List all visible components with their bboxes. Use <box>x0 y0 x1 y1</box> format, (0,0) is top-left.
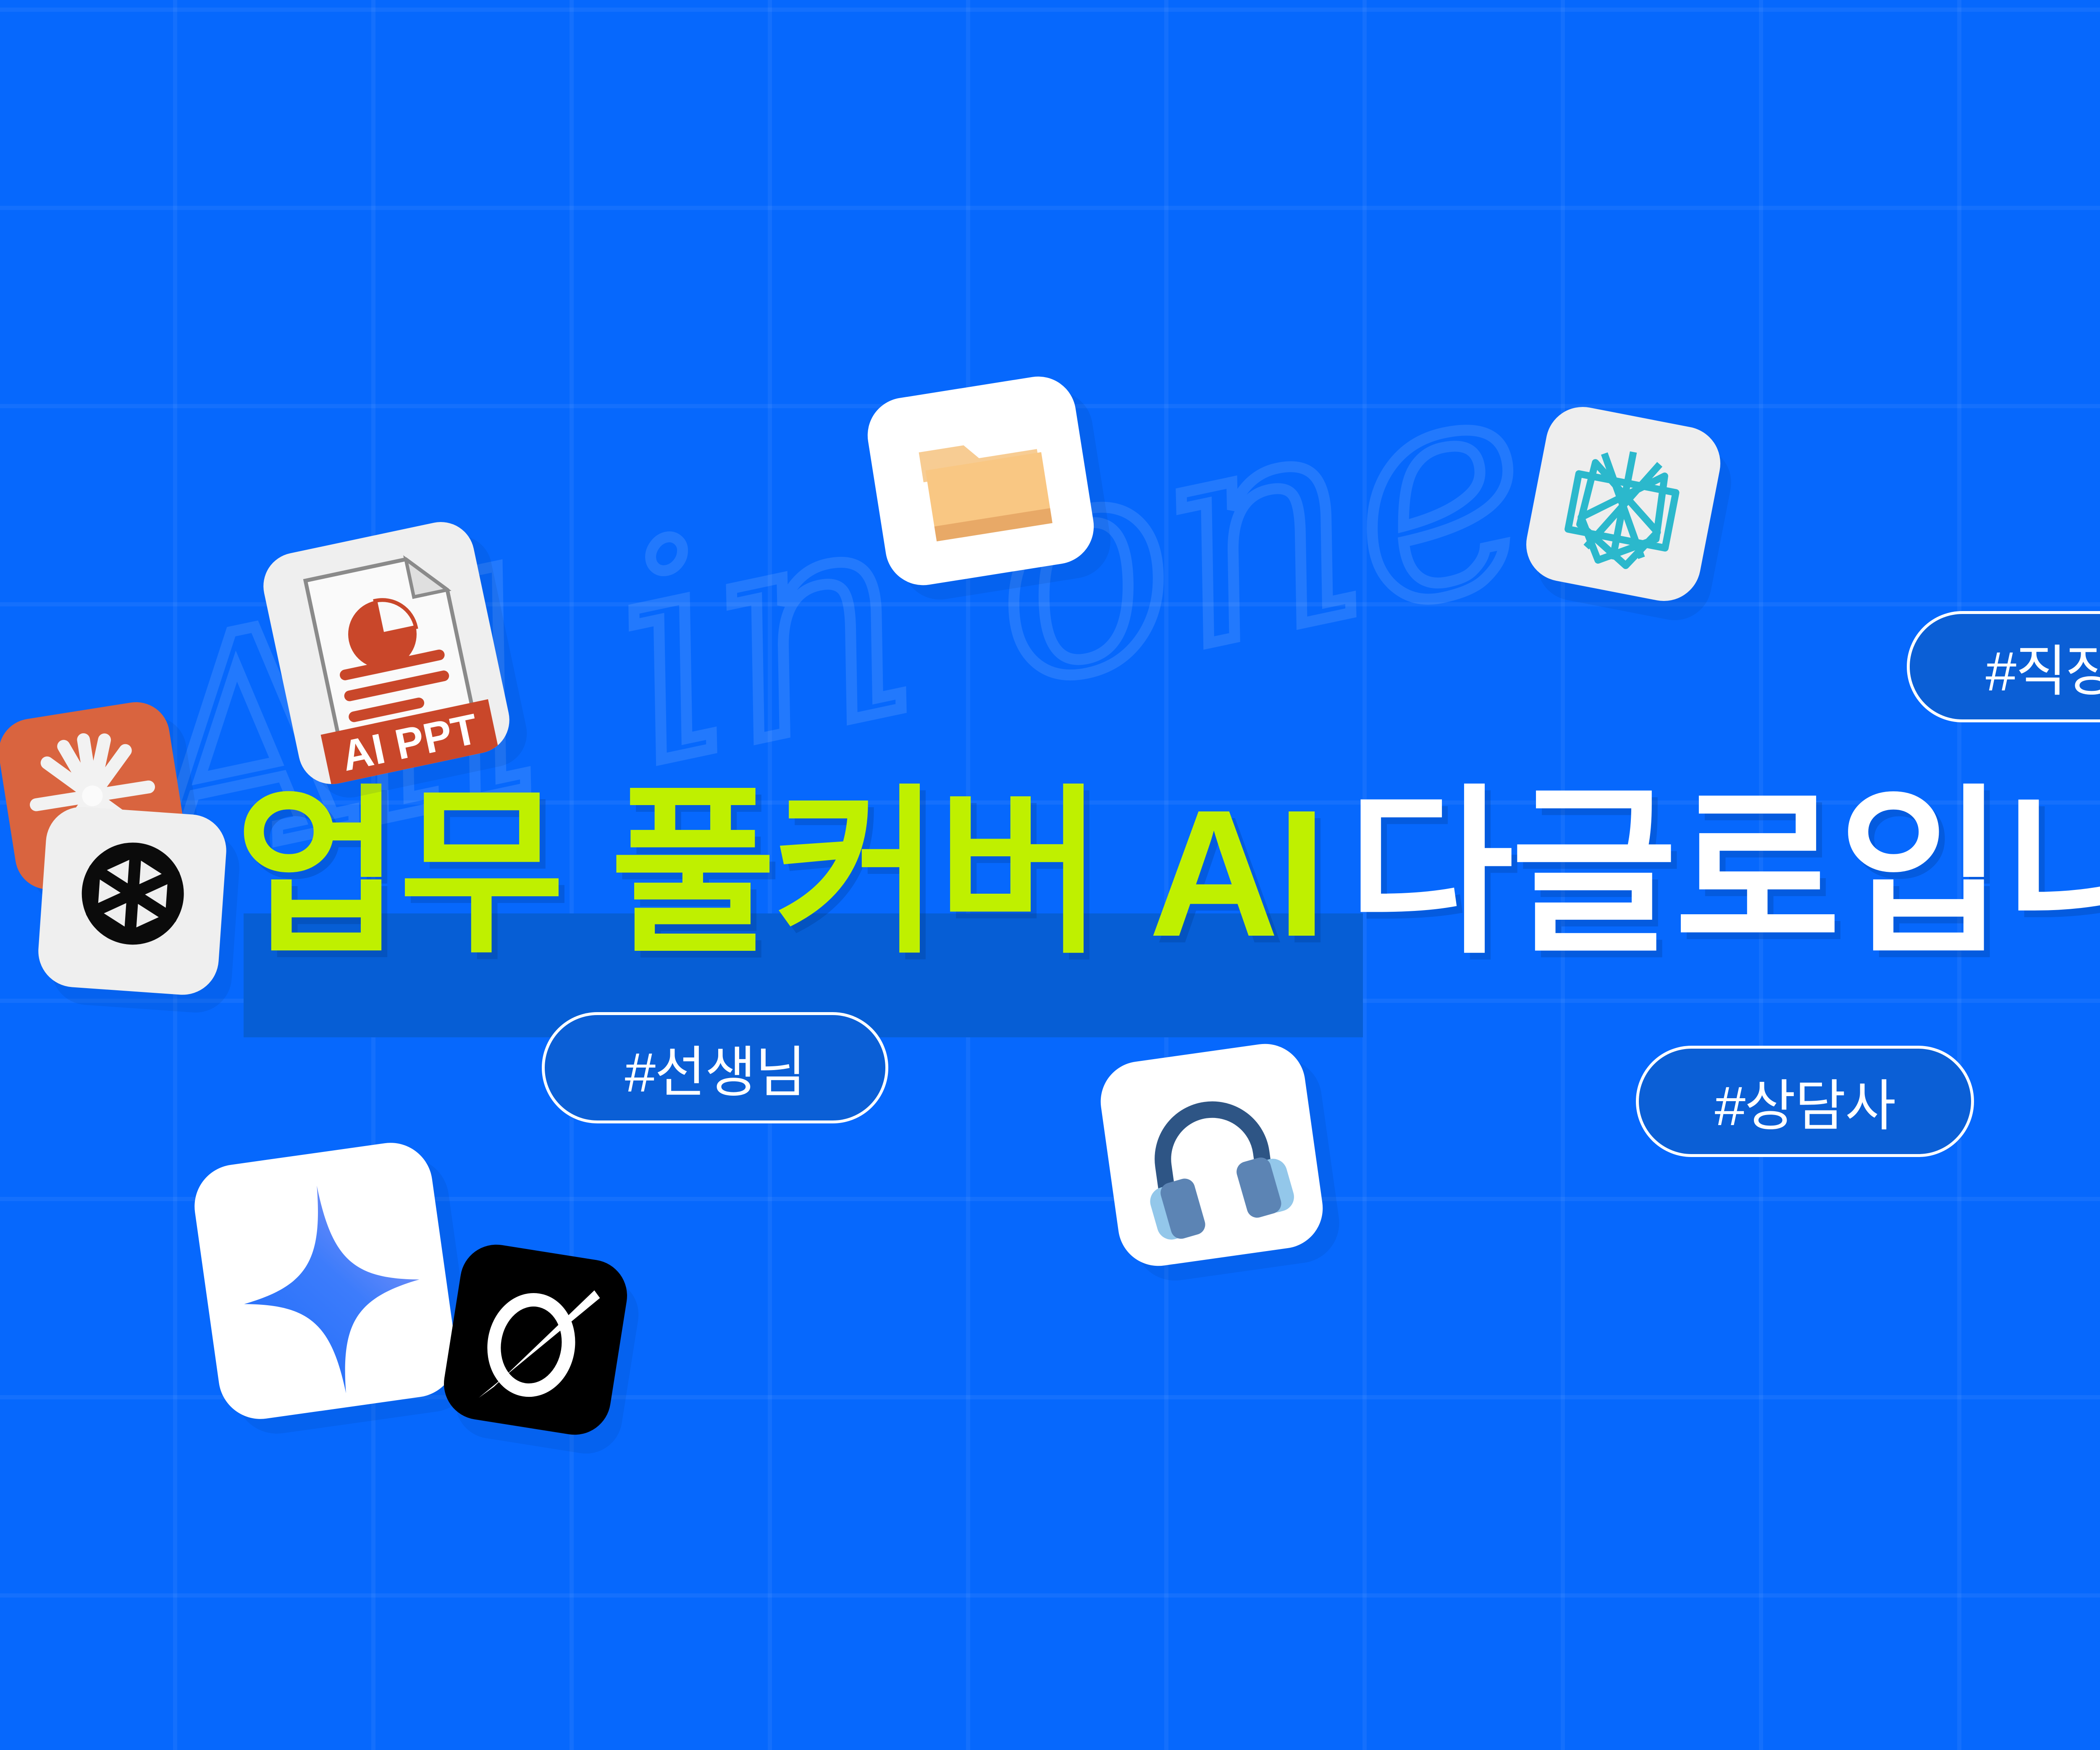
headphones-icon[interactable] <box>1095 1039 1328 1271</box>
tag-pill-jikjangin[interactable]: #직장인 <box>1907 611 2100 722</box>
folder-icon[interactable] <box>862 371 1099 591</box>
tag-pill-sangdamsa[interactable]: #상담사 <box>1636 1046 1974 1157</box>
teal-star-icon[interactable] <box>1520 401 1727 607</box>
gemini-sparkle-icon[interactable] <box>189 1137 462 1424</box>
headline-white-text: 다글로입니다 <box>1324 783 2100 964</box>
promo-banner: All in one 업무 풀커버 AI 다글로입니다 #직장인 #선생님 #상… <box>0 0 2100 1750</box>
openai-knot-icon[interactable] <box>36 805 229 997</box>
tag-pill-seonsaengnim[interactable]: #선생님 <box>542 1012 888 1123</box>
page-title: 업무 풀커버 AI 다글로입니다 <box>235 743 2100 1004</box>
grok-logo-icon[interactable] <box>439 1239 633 1440</box>
headline-green-text: 업무 풀커버 AI <box>235 783 1324 964</box>
